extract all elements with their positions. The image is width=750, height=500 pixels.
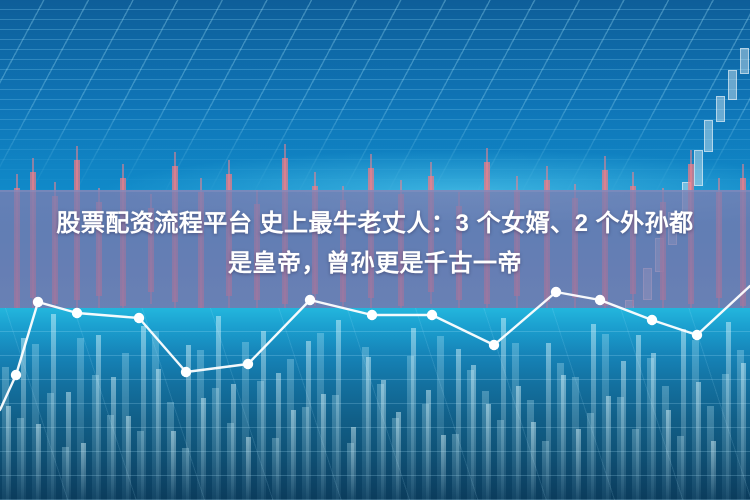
line-chart-marker <box>647 315 657 325</box>
line-chart-path <box>0 286 750 410</box>
line-chart-marker <box>427 310 437 320</box>
line-chart-marker <box>595 295 605 305</box>
line-chart-marker <box>367 310 377 320</box>
line-chart-marker <box>134 313 144 323</box>
line-chart-marker <box>692 330 702 340</box>
line-chart-marker <box>243 359 253 369</box>
line-chart-marker <box>181 367 191 377</box>
title-line-1: 股票配资流程平台 史上最牛老丈人：3 个女婿、2 个外孙都 <box>0 204 750 244</box>
banner-canvas: 股票配资流程平台 史上最牛老丈人：3 个女婿、2 个外孙都 是皇帝，曾孙更是千古… <box>0 0 750 500</box>
line-chart-marker <box>305 295 315 305</box>
line-chart-marker <box>72 308 82 318</box>
banner-title: 股票配资流程平台 史上最牛老丈人：3 个女婿、2 个外孙都 是皇帝，曾孙更是千古… <box>0 204 750 284</box>
line-chart-marker <box>551 287 561 297</box>
line-chart-markers <box>11 287 702 380</box>
title-line-2: 是皇帝，曾孙更是千古一帝 <box>0 244 750 284</box>
line-chart-marker <box>33 297 43 307</box>
line-chart-marker <box>11 370 21 380</box>
line-chart-marker <box>489 340 499 350</box>
